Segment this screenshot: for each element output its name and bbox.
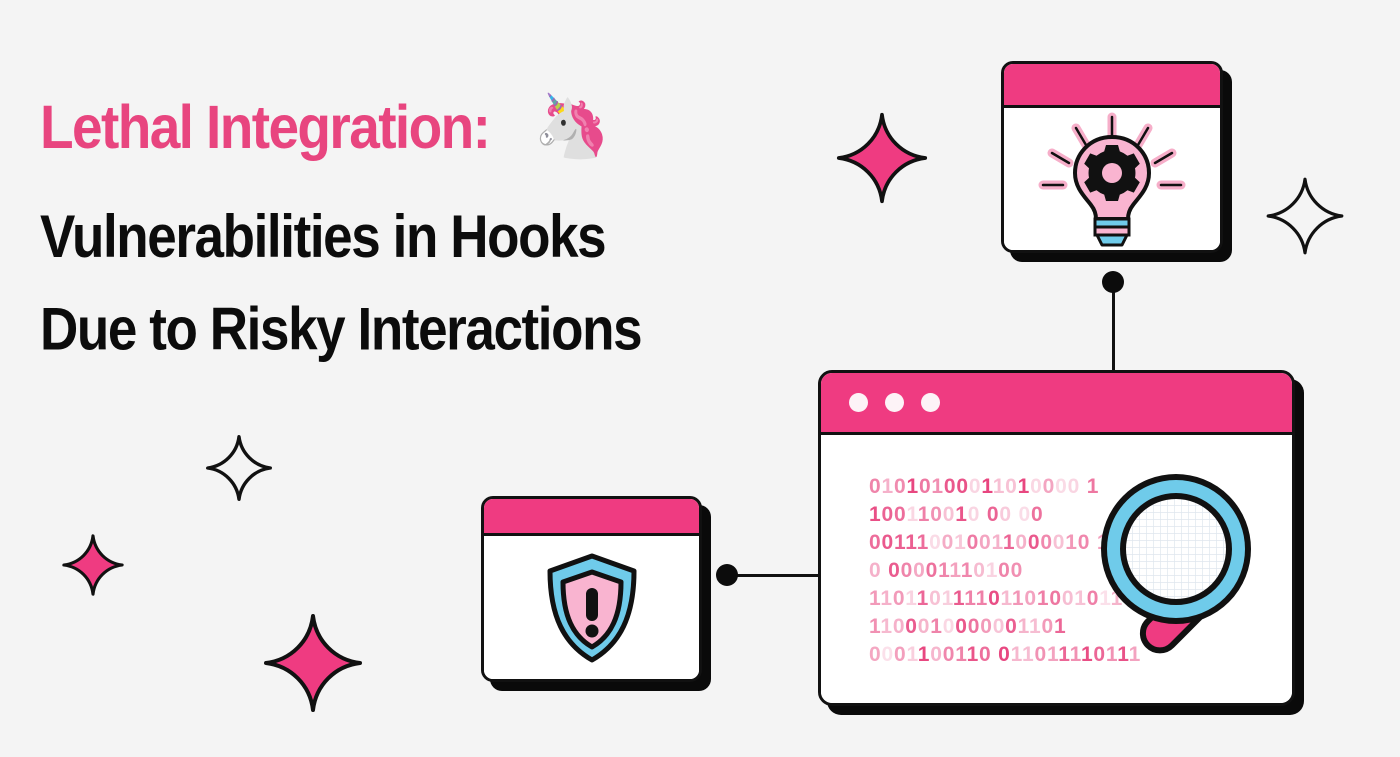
poster-canvas: Lethal Integration: 🦄 Vulnerabilities in… xyxy=(0,0,1400,757)
binary-row: 1100010000001101 xyxy=(869,613,1179,641)
connector-idea-to-main-dot xyxy=(1102,271,1124,293)
connector-idea-to-main-line xyxy=(1112,286,1115,372)
shield-exclamation-icon xyxy=(542,552,642,664)
sparkle-bottom-left-large xyxy=(263,613,363,713)
sparkle-far-right-outline xyxy=(1265,176,1345,256)
connector-shield-to-main-line xyxy=(734,574,820,577)
binary-row: 0 00001110100 xyxy=(869,557,1179,585)
sparkle-top-right-filled xyxy=(836,112,928,204)
headline-row: Lethal Integration: 🦄 xyxy=(40,96,800,158)
page-title-line-1: Vulnerabilities in Hooks xyxy=(40,192,800,284)
connector-shield-to-main-dot xyxy=(716,564,738,586)
idea-window-body xyxy=(1004,108,1220,250)
binary-inspection-window[interactable]: 01010100011010000 1100110010 00 00001110… xyxy=(818,370,1295,706)
binary-row: 110110111101101001011011 0 xyxy=(869,585,1179,613)
binary-inspection-window-body: 01010100011010000 1100110010 00 00001110… xyxy=(821,435,1292,703)
binary-row: 0001100110 011011110111 xyxy=(869,641,1179,669)
sparkle-lower-left-small xyxy=(62,534,124,596)
binary-row: 01010100011010000 1 xyxy=(869,473,1179,501)
binary-row: 001110010011000010 1 xyxy=(869,529,1179,557)
idea-window-titlebar xyxy=(1004,64,1220,108)
headline-block: Lethal Integration: 🦄 Vulnerabilities in… xyxy=(40,96,800,353)
lightbulb-gear-icon xyxy=(1032,109,1192,249)
binary-row: 100110010 00 00 xyxy=(869,501,1179,529)
page-title: Vulnerabilities in Hooks Due to Risky In… xyxy=(40,192,800,376)
security-alert-window-titlebar xyxy=(484,499,699,536)
window-dot-1[interactable] xyxy=(849,393,868,412)
page-title-line-2: Due to Risky Interactions xyxy=(40,284,800,376)
unicorn-emoji: 🦄 xyxy=(533,96,610,158)
window-dot-3[interactable] xyxy=(921,393,940,412)
sparkle-mid-left-outline xyxy=(205,434,273,502)
binary-code-block: 01010100011010000 1100110010 00 00001110… xyxy=(869,473,1179,669)
idea-window[interactable] xyxy=(1001,61,1223,253)
security-alert-window[interactable] xyxy=(481,496,702,682)
window-controls xyxy=(821,393,940,412)
title-eyebrow: Lethal Integration: xyxy=(40,96,489,158)
security-alert-window-body xyxy=(484,536,699,679)
window-dot-2[interactable] xyxy=(885,393,904,412)
binary-inspection-window-titlebar xyxy=(821,373,1292,435)
